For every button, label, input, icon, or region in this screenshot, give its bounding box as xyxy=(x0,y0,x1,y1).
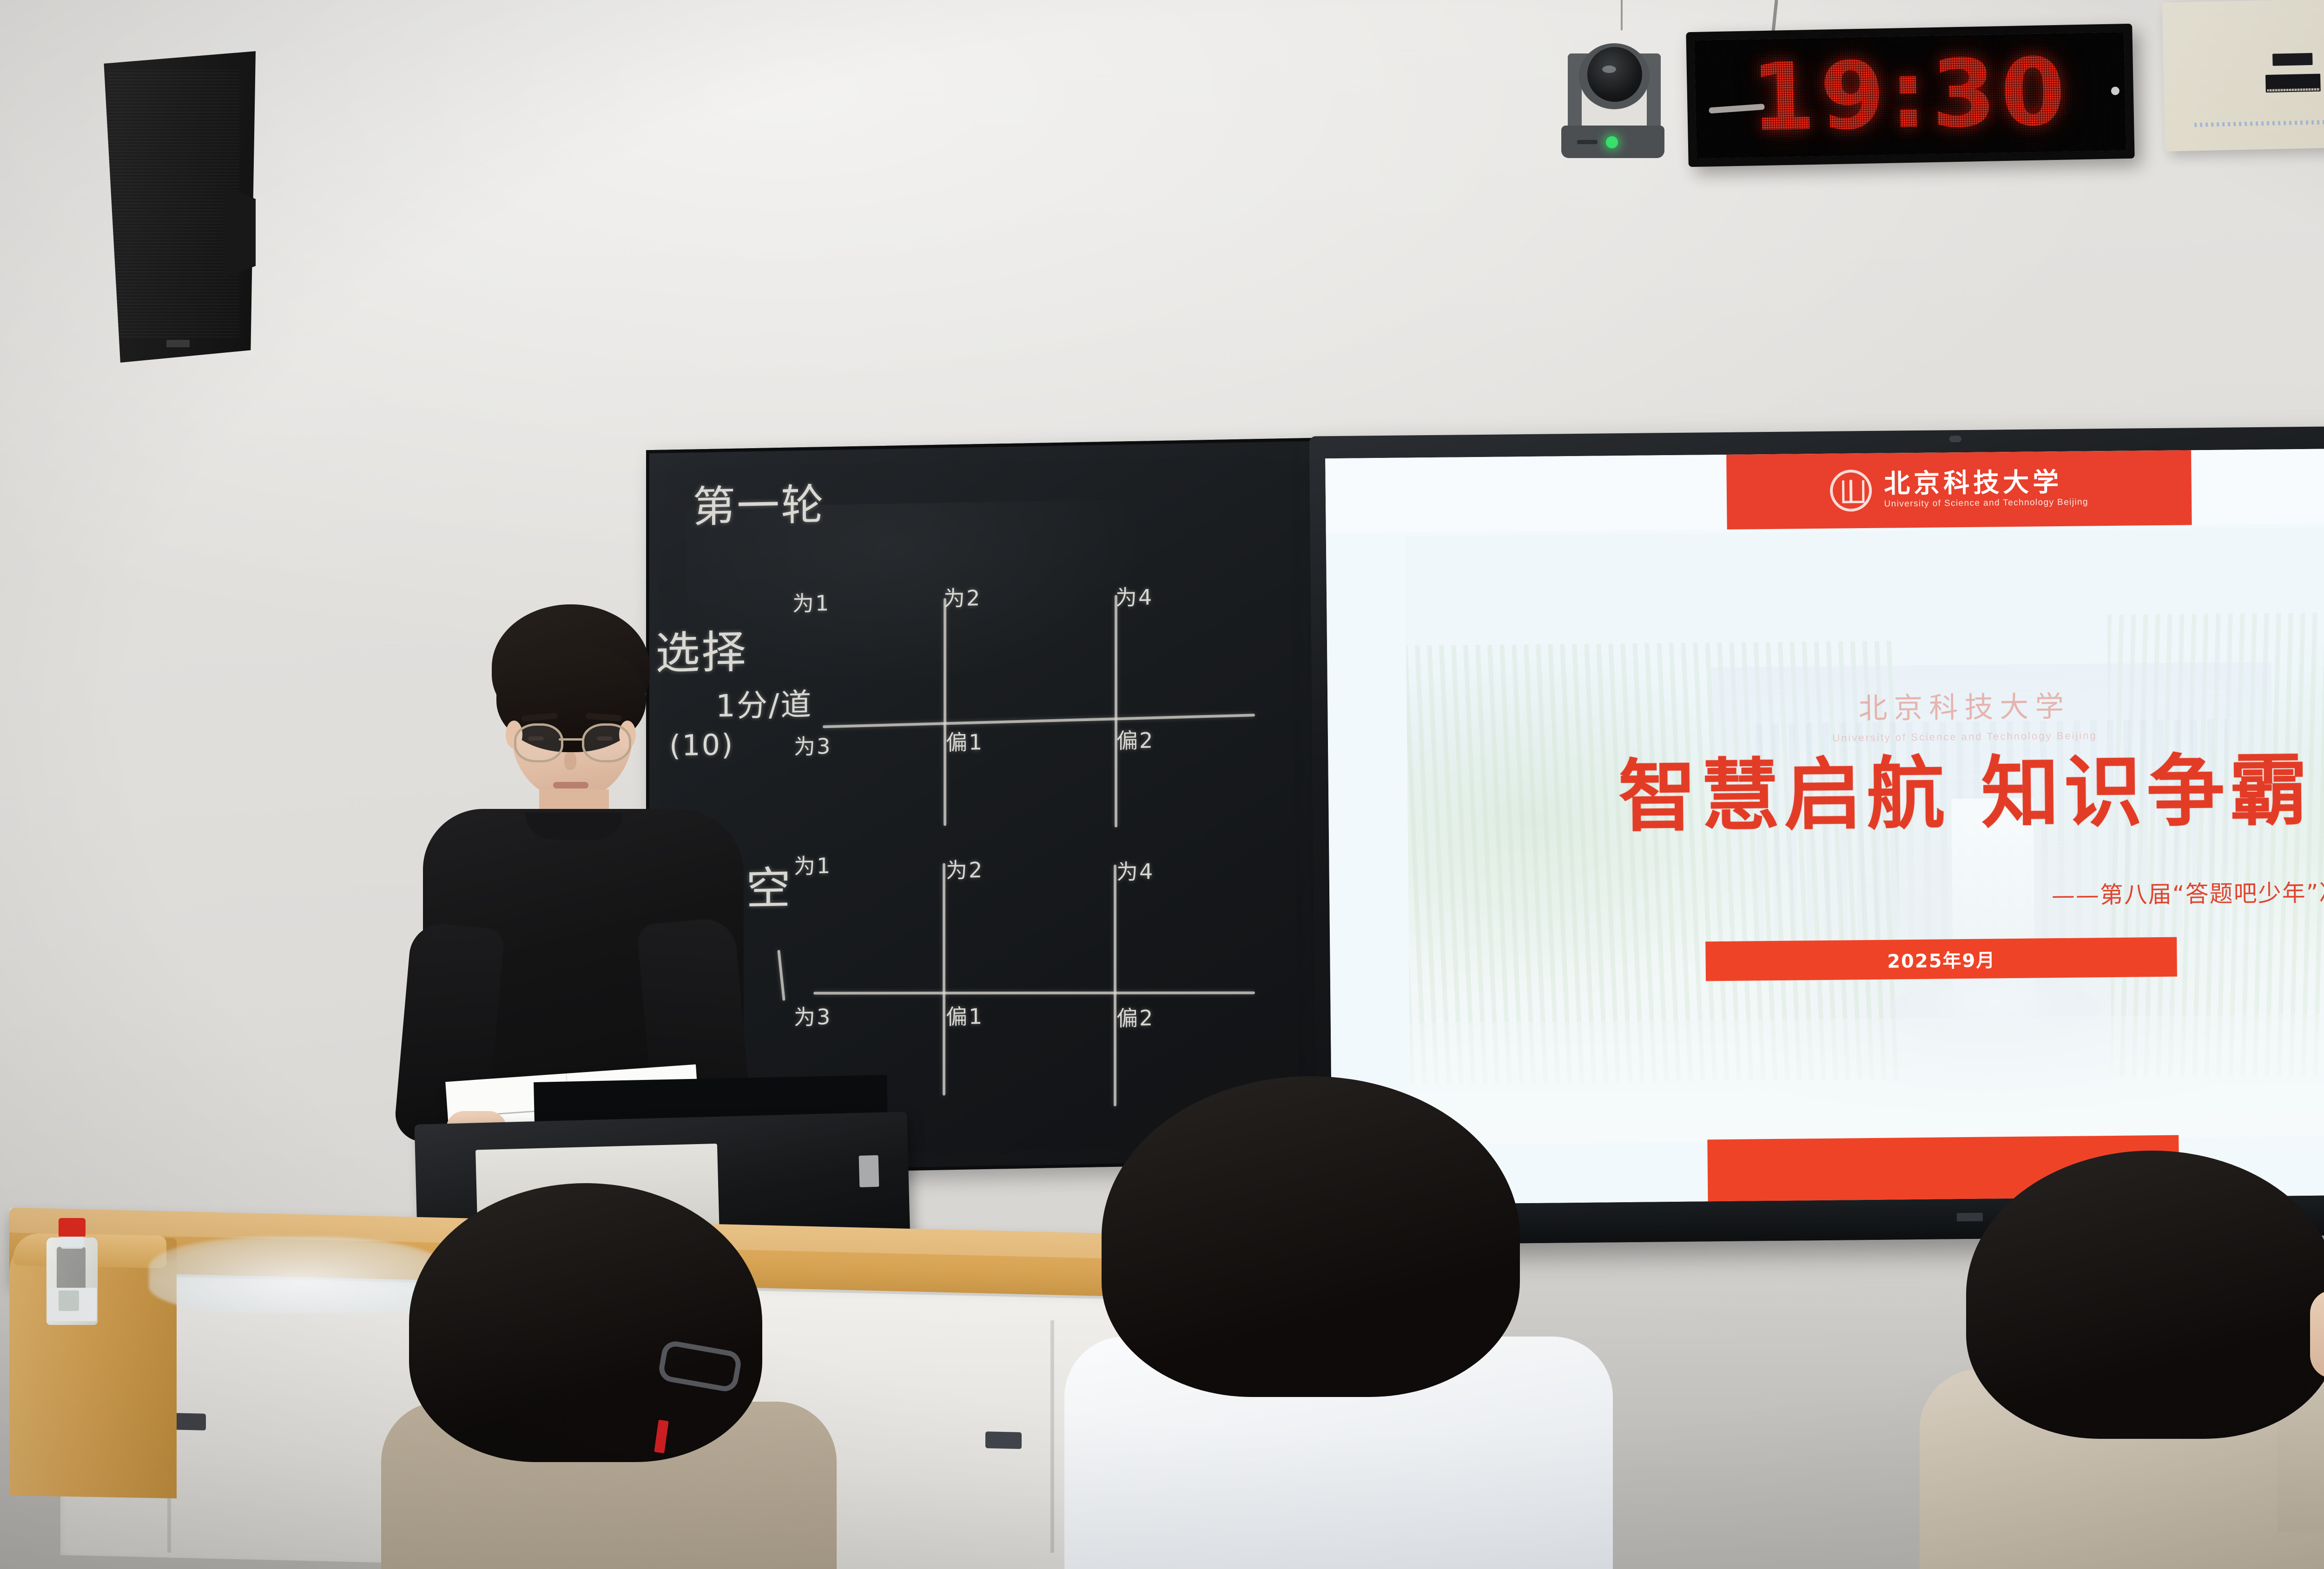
chalk-vline-1 xyxy=(944,598,946,826)
chalk-cell-r4c1: 为3 xyxy=(794,1000,832,1031)
audience-3-hand xyxy=(2310,1290,2324,1378)
camera-ir-slot xyxy=(1577,140,1598,144)
bottle-label-block xyxy=(59,1291,79,1311)
university-logo-text: 北京科技大学 University of Science and Technol… xyxy=(1884,470,2088,510)
audience-2-hair xyxy=(1102,1076,1520,1397)
classroom-scene: 19:30 第一轮 选择 1分/道 (10) 为1 为2 为4 为3 偏1 偏2… xyxy=(0,0,2324,1569)
chalk-cell-r3c1: 为1 xyxy=(794,849,832,880)
chalk-cell-r3c3: 为4 xyxy=(1116,854,1154,886)
speaker-grille xyxy=(107,70,239,338)
chalk-cell-r4c2: 偏1 xyxy=(946,1000,984,1031)
university-name-cn: 北京科技大学 xyxy=(1884,470,2088,497)
chalk-cell-r2c1: 为3 xyxy=(794,729,832,761)
slide-subtitle: ——第八届“答题吧少年”冶金学院分站赛 xyxy=(2051,873,2324,911)
monitor-label-tag xyxy=(859,1155,879,1187)
audience-member-3 xyxy=(1920,1151,2324,1569)
chalk-cell-r1c3: 为4 xyxy=(1116,580,1153,611)
audience-member-2 xyxy=(1064,1076,1613,1569)
presenter-collar xyxy=(525,813,623,840)
presenter-glasses-right-lens xyxy=(582,723,631,762)
bottle-cap xyxy=(59,1218,86,1237)
chalk-vline-2 xyxy=(1115,595,1117,828)
slide-header-bar: 北京科技大学 University of Science and Technol… xyxy=(1325,446,2324,533)
presenter-glasses-bridge xyxy=(559,738,583,741)
camera-cable xyxy=(1621,0,1623,30)
lectern-handle-right[interactable] xyxy=(985,1431,1022,1449)
audience-3-hair xyxy=(1966,1151,2324,1439)
outlet-slot-upper xyxy=(2272,53,2312,66)
speaker-mount-bracket xyxy=(223,186,256,279)
chalk-cell-r3c2: 为2 xyxy=(946,853,984,884)
wall-outlet-panel[interactable] xyxy=(2162,0,2324,152)
audience-member-1 xyxy=(381,1183,837,1569)
chalk-vline-3 xyxy=(943,863,945,1095)
presenter-glasses-left-lens xyxy=(514,723,563,762)
clock-indicator-dot xyxy=(2111,86,2119,95)
chalk-round-label: 第一轮 xyxy=(693,470,825,534)
outlet-slot-lower xyxy=(2265,74,2320,93)
slide-date-bar: 2025年9月 xyxy=(1705,937,2177,981)
lectern-panel-divider-right xyxy=(1050,1320,1054,1553)
chalk-cell-r4c3: 偏2 xyxy=(1116,1001,1154,1032)
panel-text-strip xyxy=(2194,119,2324,127)
camera-status-led xyxy=(1606,136,1618,148)
slide-header-red-tab: 北京科技大学 University of Science and Technol… xyxy=(1726,450,2192,529)
university-crest-icon xyxy=(1830,470,1872,512)
slide-main-title: 智慧启航 知识争霸 xyxy=(1328,748,2324,839)
university-name-en: University of Science and Technology Bei… xyxy=(1884,497,2089,510)
presenter-nose xyxy=(564,752,576,770)
chalk-cell-r2c2: 偏1 xyxy=(946,725,984,756)
slide-date-text: 2025年9月 xyxy=(1887,945,1996,973)
speaker-badge xyxy=(166,340,190,347)
ptz-camera xyxy=(1559,26,1666,160)
display-camera-icon xyxy=(1949,436,1961,442)
chalk-cell-r1c2: 为2 xyxy=(944,581,981,612)
presenter-mouth xyxy=(553,782,588,788)
wall-led-clock: 19:30 xyxy=(1686,24,2134,167)
chalk-vline-4 xyxy=(1114,865,1116,1106)
camera-lens-icon xyxy=(1587,47,1642,102)
chalk-hline-2 xyxy=(813,992,1255,995)
university-logo: 北京科技大学 University of Science and Technol… xyxy=(1830,468,2088,512)
audience-1-hair xyxy=(409,1183,762,1462)
chalk-cell-r2c3: 偏2 xyxy=(1116,723,1154,755)
water-bottle xyxy=(46,1218,98,1325)
chalk-cell-r1c1: 为1 xyxy=(792,586,830,617)
camera-lens-glint xyxy=(1602,66,1616,73)
clock-led-matrix xyxy=(1695,32,2126,159)
